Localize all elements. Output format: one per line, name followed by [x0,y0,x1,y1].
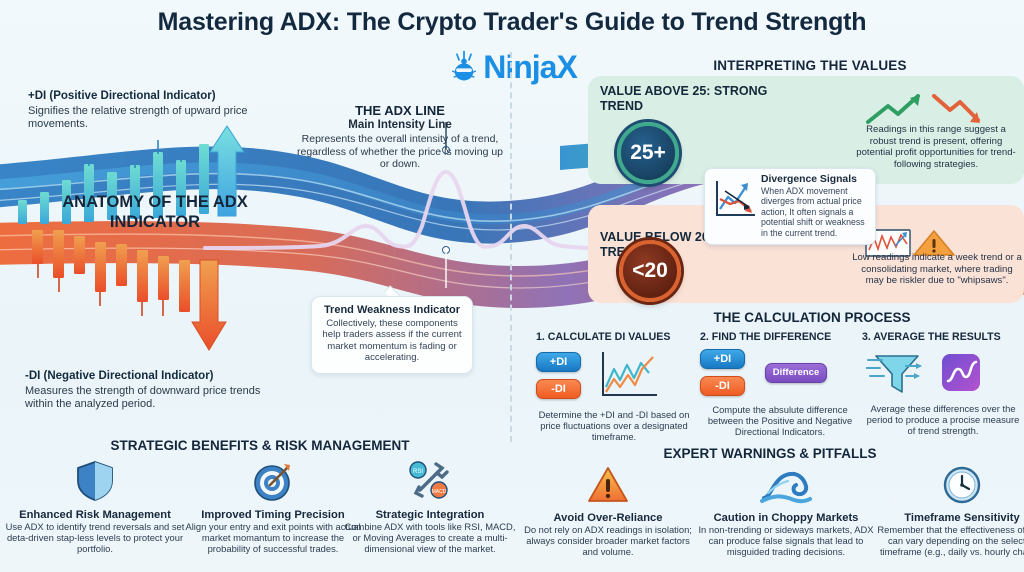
wrench-tools-icon: RSI MACD [406,460,454,502]
benefit-card-3-body: Combine ADX with tools like RSI, MACD, o… [340,521,520,554]
warning-card-1-heading: Avoid Over-Reliance [518,512,698,524]
benefit-card-1-heading: Enhanced Risk Management [5,509,185,521]
adx-line-subheading: Main Intensity Line [300,119,500,131]
warning-card-3-heading: Timeframe Sensitivity [872,512,1024,524]
warning-card-3: Timeframe Sensitivity Remember that the … [872,465,1024,557]
divergence-body: When ADX movement diverges from actual p… [761,186,868,238]
warning-card-2-body: In non-trending or sideways markets, ADX… [695,524,877,557]
benefit-card-2-heading: Improved Timing Precision [183,509,363,521]
calc-step-2-body: Compute the absulute difference between … [696,404,864,437]
funnel-icon [866,348,924,396]
pill-pdi-step1: +DI [536,352,581,372]
pill-difference: Difference [765,363,827,383]
calc-step-3-body: Average these differences over the perio… [862,403,1024,436]
benefit-card-2: Improved Timing Precision Align your ent… [183,460,363,554]
benefit-card-1-body: Use ADX to identify trend reversals and … [5,521,185,554]
ocean-wave-icon [760,465,812,505]
trend-weakness-heading: Trend Weakness Indicator [321,304,463,316]
calc-step-1: 1. CALCULATE DI VALUES +DI -DI Determine… [536,331,696,442]
svg-text:MACD: MACD [432,489,447,495]
calc-step-3: 3. AVERAGE THE RESULTS Average these dif… [862,331,1024,436]
svg-text:RSI: RSI [413,469,423,475]
warnings-title: EXPERT WARNINGS & PITFALLS [530,446,1010,461]
calculation-title: THE CALCULATION PROCESS [600,310,1024,325]
weak-trend-gauge: <20 [619,240,681,302]
calc-step-1-body: Determine the +DI and -DI based on price… [530,409,698,442]
divergence-heading: Divergence Signals [761,174,868,185]
anatomy-title: ANATOMY OF THE ADX INDICATOR [20,192,290,232]
warning-card-3-body: Remember that the effectiveness of ADX c… [872,524,1024,557]
benefit-card-3-heading: Strategic Integration [340,509,520,521]
clock-icon [941,465,983,505]
pdi-heading: +DI (Positive Directional Indicator) [28,90,278,102]
warning-card-1: Avoid Over-Reliance Do not rely on ADX r… [518,465,698,557]
calc-step-2-heading: 2. FIND THE DIFFERENCE [700,331,864,343]
ninja-mask-icon [447,50,481,84]
divergence-callout: Divergence Signals When ADX movement div… [704,168,876,245]
benefit-card-1: Enhanced Risk Management Use ADX to iden… [5,460,185,554]
infographic-canvas: Mastering ADX: The Crypto Trader's Guide… [0,0,1024,572]
benefit-card-3: RSI MACD Strategic Integration Combine A… [340,460,520,554]
pill-ndi-step2: -DI [700,376,745,396]
trend-weakness-body: Collectively, these components help trad… [321,318,463,364]
divergence-chart-icon [711,177,757,221]
pill-pdi-step2: +DI [700,349,745,369]
calc-step-3-heading: 3. AVERAGE THE RESULTS [862,331,1024,343]
benefits-title: STRATEGIC BENEFITS & RISK MANAGEMENT [20,438,500,453]
calc-step-1-heading: 1. CALCULATE DI VALUES [536,331,696,343]
ndi-heading: -DI (Negative Directional Indicator) [25,370,285,382]
calc-step-2: 2. FIND THE DIFFERENCE +DI -DI Differenc… [700,331,864,437]
smoothed-average-icon [940,351,982,393]
column-divider [510,52,512,442]
ndi-body: Measures the strength of downward price … [25,385,265,411]
warning-card-2-heading: Caution in Choppy Markets [695,512,877,524]
adx-line-body: Represents the overall intensity of a tr… [296,133,504,171]
pdi-body: Signifies the relative strength of upwar… [28,105,258,131]
warning-card-1-body: Do not rely on ADX readings in isolation… [518,524,698,557]
page-title: Mastering ADX: The Crypto Trader's Guide… [0,8,1024,37]
trend-arrows-icon [860,94,1010,126]
strong-trend-label: VALUE ABOVE 25: STRONG TREND [600,84,780,114]
warning-card-2: Caution in Choppy Markets In non-trendin… [695,465,877,557]
strong-trend-note: Readings in this range suggest a robust … [852,124,1020,170]
brand-name: NinjaX [483,50,577,84]
warning-triangle-icon [586,465,630,505]
weak-trend-note: Low readings indicate a week trend or a … [852,252,1022,287]
shield-icon [74,460,116,502]
trend-weakness-callout: Trend Weakness Indicator Collectively, t… [311,296,473,374]
pill-ndi-step1: -DI [536,379,581,399]
interpreting-title: INTERPRETING THE VALUES [600,58,1020,73]
benefit-card-2-body: Align your entry and exit points with ac… [183,521,363,554]
adx-line-heading: THE ADX LINE [300,103,500,118]
strong-trend-gauge: 25+ [617,122,679,184]
line-chart-icon [597,349,659,401]
target-dart-icon [252,460,294,502]
